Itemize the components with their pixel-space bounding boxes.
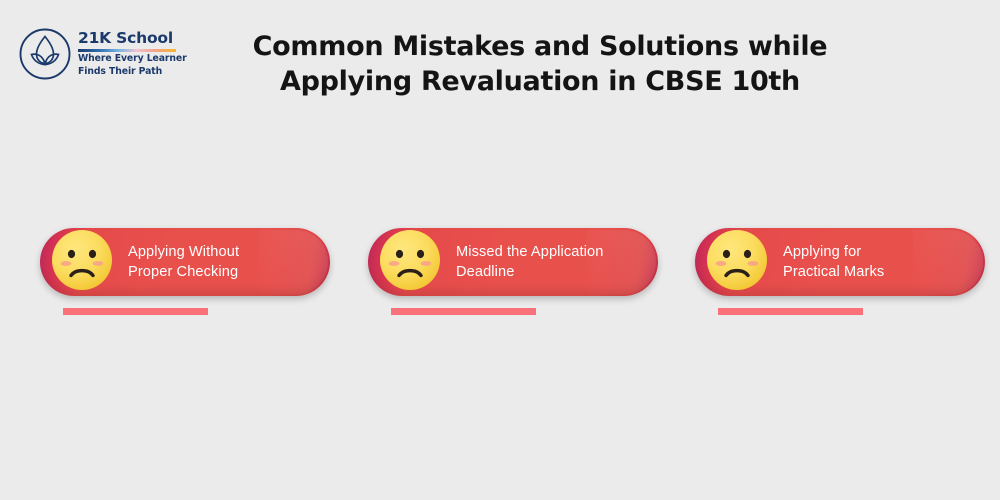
header: 21K School Where Every Learner Finds The…	[0, 0, 1000, 120]
mistake-card-1-label-line2: Proper Checking	[128, 264, 238, 280]
brand-gradient-rule	[78, 49, 176, 52]
brand-logo-text: 21K School Where Every Learner Finds The…	[78, 30, 187, 77]
brand-tagline-line1: Where Every Learner	[78, 53, 187, 65]
mistake-card-1-label-line1: Applying Without	[128, 244, 239, 260]
lotus-circle-icon	[18, 27, 72, 81]
mistake-card-3-underline	[718, 308, 863, 315]
mistake-card-3-label-line1: Applying for	[783, 244, 861, 260]
mistake-card-1-label: Applying Without Proper Checking	[128, 242, 255, 282]
mistake-card-3-label: Applying for Practical Marks	[783, 242, 900, 282]
mistake-card-2-pill[interactable]: Missed the Application Deadline	[368, 228, 658, 296]
sad-face-icon	[374, 224, 446, 296]
mistake-card-2[interactable]: Missed the Application Deadline	[368, 228, 658, 296]
mistake-card-3-pill[interactable]: Applying for Practical Marks	[695, 228, 985, 296]
mistake-card-1-underline	[63, 308, 208, 315]
mistake-card-1[interactable]: Applying Without Proper Checking	[40, 228, 330, 296]
mistake-card-2-label: Missed the Application Deadline	[456, 242, 619, 282]
page-title-line2: Applying Revaluation in CBSE 10th	[190, 65, 890, 100]
page-title-line1: Common Mistakes and Solutions while	[190, 30, 890, 65]
brand-logo[interactable]: 21K School Where Every Learner Finds The…	[18, 27, 187, 81]
mistake-card-list: Applying Without Proper Checking	[0, 228, 1000, 338]
mistake-card-3[interactable]: Applying for Practical Marks	[695, 228, 985, 296]
mistake-card-2-label-line2: Deadline	[456, 264, 514, 280]
mistake-card-2-underline	[391, 308, 536, 315]
sad-face-icon	[701, 224, 773, 296]
sad-face-icon	[46, 224, 118, 296]
mistake-card-2-label-line1: Missed the Application	[456, 244, 603, 260]
brand-name: 21K School	[78, 30, 187, 46]
brand-tagline-line2: Finds Their Path	[78, 66, 187, 78]
page-title: Common Mistakes and Solutions while Appl…	[190, 30, 890, 99]
mistake-card-3-label-line2: Practical Marks	[783, 264, 884, 280]
mistake-card-1-pill[interactable]: Applying Without Proper Checking	[40, 228, 330, 296]
